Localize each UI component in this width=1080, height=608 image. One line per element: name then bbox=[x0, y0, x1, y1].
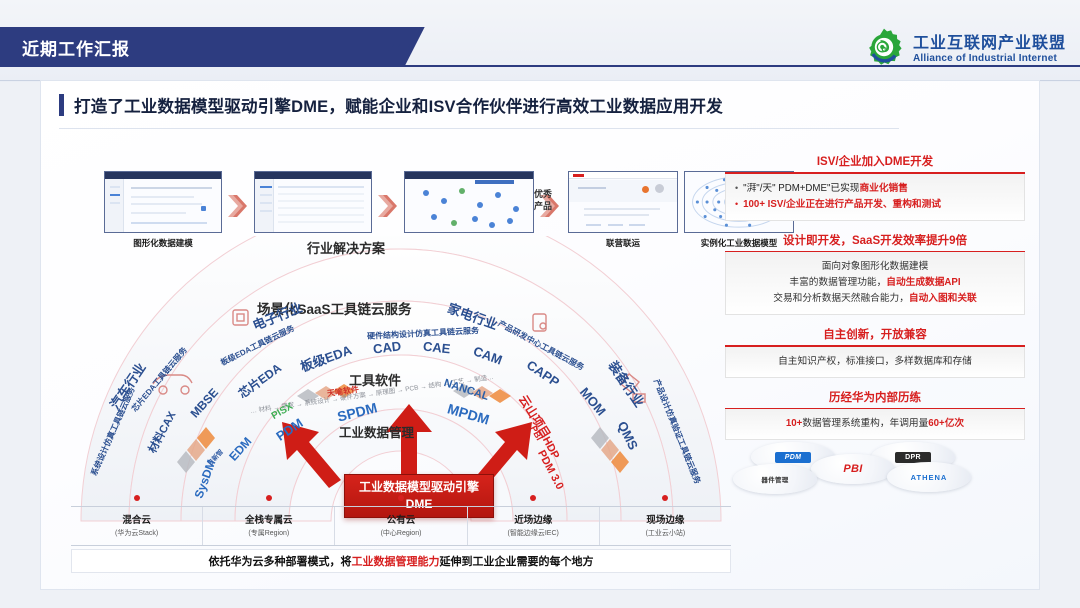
stat-suffix: 60+亿次 bbox=[928, 418, 964, 429]
panel-stat-line: 10+数据管理系统重构，年调用量60+亿次 bbox=[735, 416, 1015, 432]
logo-text-athena: ATHENA bbox=[911, 473, 948, 482]
deployment-cell-near-edge[interactable]: 近场边缘 (智能边缘云IEC) bbox=[468, 507, 600, 545]
panel-line-emphasis: 自动入图和关联 bbox=[909, 293, 977, 304]
excellent-line1: 优秀 bbox=[534, 189, 552, 201]
panel-isv-adoption: ISV/企业加入DME开发 • "湃"/天" PDM+DME"已实现商业化销售 … bbox=[725, 153, 1025, 221]
deployment-name: 混合云 bbox=[71, 512, 202, 526]
panel-line-plain: 交易和分析数据天然融合能力， bbox=[773, 293, 909, 304]
deployment-sub: (华为云Stack) bbox=[71, 528, 202, 538]
panel-independent-innovation: 自主创新，开放兼容 自主知识产权，标准接口，多样数据库和存储 bbox=[725, 326, 1025, 378]
headline-accent-bar bbox=[59, 94, 64, 116]
logo-title-cn: 工业互联网产业联盟 bbox=[913, 35, 1066, 53]
ring-title-data-mgmt: 工业数据管理 bbox=[339, 422, 414, 441]
panel-body: • "湃"/天" PDM+DME"已实现商业化销售 • 100+ ISV/企业正… bbox=[725, 174, 1025, 221]
logo-bubble-pbi: PBI bbox=[811, 454, 895, 484]
logo-text-dpr: DPR bbox=[895, 452, 931, 463]
arrow-right-icon bbox=[376, 193, 398, 219]
panel-line-plain: 面向对象图形化数据建模 bbox=[822, 261, 929, 272]
panel-bullet: • 100+ ISV/企业正在进行产品开发、重构和测试 bbox=[735, 197, 1015, 213]
deployment-mode-bar: 混合云 (华为云Stack) 全栈专属云 (专属Region) 公有云 (中心R… bbox=[71, 506, 731, 546]
deployment-name: 全栈专属云 bbox=[203, 512, 334, 526]
highlights-panel-column: ISV/企业加入DME开发 • "湃"/天" PDM+DME"已实现商业化销售 … bbox=[725, 153, 1025, 505]
deployment-sub: (专属Region) bbox=[203, 528, 334, 538]
thumbnail-image-api bbox=[254, 171, 372, 233]
ring-title-industry: 行业解决方案 bbox=[307, 238, 385, 257]
panel-title: 自主创新，开放兼容 bbox=[725, 326, 1025, 345]
deployment-marker-dot bbox=[398, 495, 404, 501]
logo-text-device-mgmt: 器件管理 bbox=[761, 474, 788, 484]
footer-suffix: 延伸到工业企业需要的每个地方 bbox=[440, 556, 594, 568]
bullet-emphasis: 100+ ISV/企业正在进行产品开发、重构和测试 bbox=[743, 197, 941, 213]
panel-line: 丰富的数据管理功能，自动生成数据API bbox=[735, 275, 1015, 291]
thumbnail-image-deploy bbox=[404, 171, 534, 233]
deployment-name: 现场边缘 bbox=[600, 512, 731, 526]
capability-arc-diagram: 行业解决方案 场景化SaaS工具链云服务 工具软件 工业数据管理 汽车行业 电子… bbox=[61, 236, 741, 536]
arc-label-tool: CAE bbox=[422, 339, 451, 357]
deployment-name: 公有云 bbox=[335, 512, 466, 526]
panel-line: 交易和分析数据天然融合能力，自动入图和关联 bbox=[735, 291, 1015, 307]
footer-emphasis: 工业数据管理能力 bbox=[352, 556, 440, 568]
deployment-cell-hybrid[interactable]: 混合云 (华为云Stack) bbox=[71, 507, 203, 545]
panel-bullet: • "湃"/天" PDM+DME"已实现商业化销售 bbox=[735, 181, 1015, 197]
title-banner: 近期工作汇报 bbox=[0, 27, 400, 65]
bullet-emphasis: 商业化销售 bbox=[859, 183, 907, 194]
thumbnail-image-marketplace bbox=[568, 171, 678, 233]
deployment-cell-dedicated[interactable]: 全栈专属云 (专属Region) bbox=[203, 507, 335, 545]
gear-logo-icon bbox=[863, 26, 905, 73]
internal-system-logo-cluster: PDM DPR PBI 器件管理 ATHENA bbox=[725, 442, 1025, 494]
panel-body: 自主知识产权，标准接口，多样数据库和存储 bbox=[725, 347, 1025, 378]
bullet-dot-icon: • bbox=[735, 197, 738, 212]
deployment-sub: (中心Region) bbox=[335, 528, 466, 538]
thumbnail-image-modeling bbox=[104, 171, 222, 233]
headline-divider bbox=[59, 128, 899, 129]
org-logo: 工业互联网产业联盟 Alliance of Industrial Interne… bbox=[863, 26, 1066, 73]
logo-bubble-athena: ATHENA bbox=[887, 462, 971, 492]
footer-prefix: 依托华为云多种部署模式，将 bbox=[209, 556, 352, 568]
headline-group: 打造了工业数据模型驱动引擎DME，赋能企业和ISV合作伙伴进行高效工业数据应用开… bbox=[59, 93, 723, 117]
page-header: 近期工作汇报 工业互联网产业联盟 Alliance of Industrial bbox=[0, 0, 1080, 82]
logo-text-pbi: PBI bbox=[843, 463, 862, 475]
panel-line: 自主知识产权，标准接口，多样数据库和存储 bbox=[735, 354, 1015, 370]
panel-line-emphasis: 自动生成数据API bbox=[886, 277, 960, 288]
panel-title: 历经华为内部历练 bbox=[725, 389, 1025, 408]
bullet-plain: "湃"/天" PDM+DME"已实现 bbox=[743, 183, 859, 194]
logo-text-pdm: PDM bbox=[775, 452, 811, 463]
arrow-right-icon bbox=[226, 193, 248, 219]
panel-title: 设计即开发，SaaS开发效率提升9倍 bbox=[725, 232, 1025, 251]
slide-canvas: 打造了工业数据模型驱动引擎DME，赋能企业和ISV合作伙伴进行高效工业数据应用开… bbox=[40, 80, 1040, 590]
deployment-cell-public[interactable]: 公有云 (中心Region) bbox=[335, 507, 467, 545]
deployment-name: 近场边缘 bbox=[468, 512, 599, 526]
deployment-cell-on-site-edge[interactable]: 现场边缘 (工业云小站) bbox=[600, 507, 731, 545]
panel-title: ISV/企业加入DME开发 bbox=[725, 153, 1025, 172]
panel-saas-efficiency: 设计即开发，SaaS开发效率提升9倍 面向对象图形化数据建模 丰富的数据管理功能… bbox=[725, 232, 1025, 316]
deployment-marker-dot bbox=[266, 495, 272, 501]
logo-title-en: Alliance of Industrial Internet bbox=[913, 53, 1066, 64]
bullet-dot-icon: • bbox=[735, 181, 738, 196]
panel-line-plain: 丰富的数据管理功能， bbox=[789, 277, 886, 288]
stat-mid: 数据管理系统重构，年调用量 bbox=[802, 418, 928, 429]
panel-body: 10+数据管理系统重构，年调用量60+亿次 bbox=[725, 409, 1025, 440]
excellent-product-label: 优秀 产品 bbox=[534, 189, 552, 212]
deployment-sub: (智能边缘云IEC) bbox=[468, 528, 599, 538]
deployment-marker-dot bbox=[134, 495, 140, 501]
panel-body: 面向对象图形化数据建模 丰富的数据管理功能，自动生成数据API 交易和分析数据天… bbox=[725, 252, 1025, 315]
footer-statement-strip: 依托华为云多种部署模式，将工业数据管理能力延伸到工业企业需要的每个地方 bbox=[71, 549, 731, 573]
panel-line: 面向对象图形化数据建模 bbox=[735, 259, 1015, 275]
deployment-sub: (工业云小站) bbox=[600, 528, 731, 538]
panel-huawei-internal: 历经华为内部历练 10+数据管理系统重构，年调用量60+亿次 PDM DPR P… bbox=[725, 389, 1025, 495]
page-title: 近期工作汇报 bbox=[22, 35, 130, 60]
excellent-line2: 产品 bbox=[534, 201, 552, 213]
stat-prefix: 10+ bbox=[786, 418, 802, 429]
banner-slash-decoration bbox=[383, 27, 443, 65]
slide-headline: 打造了工业数据模型驱动引擎DME，赋能企业和ISV合作伙伴进行高效工业数据应用开… bbox=[74, 93, 723, 117]
logo-bubble-device-mgmt: 器件管理 bbox=[733, 464, 817, 494]
dme-title-line1: 工业数据模型驱动引擎 bbox=[345, 479, 493, 496]
